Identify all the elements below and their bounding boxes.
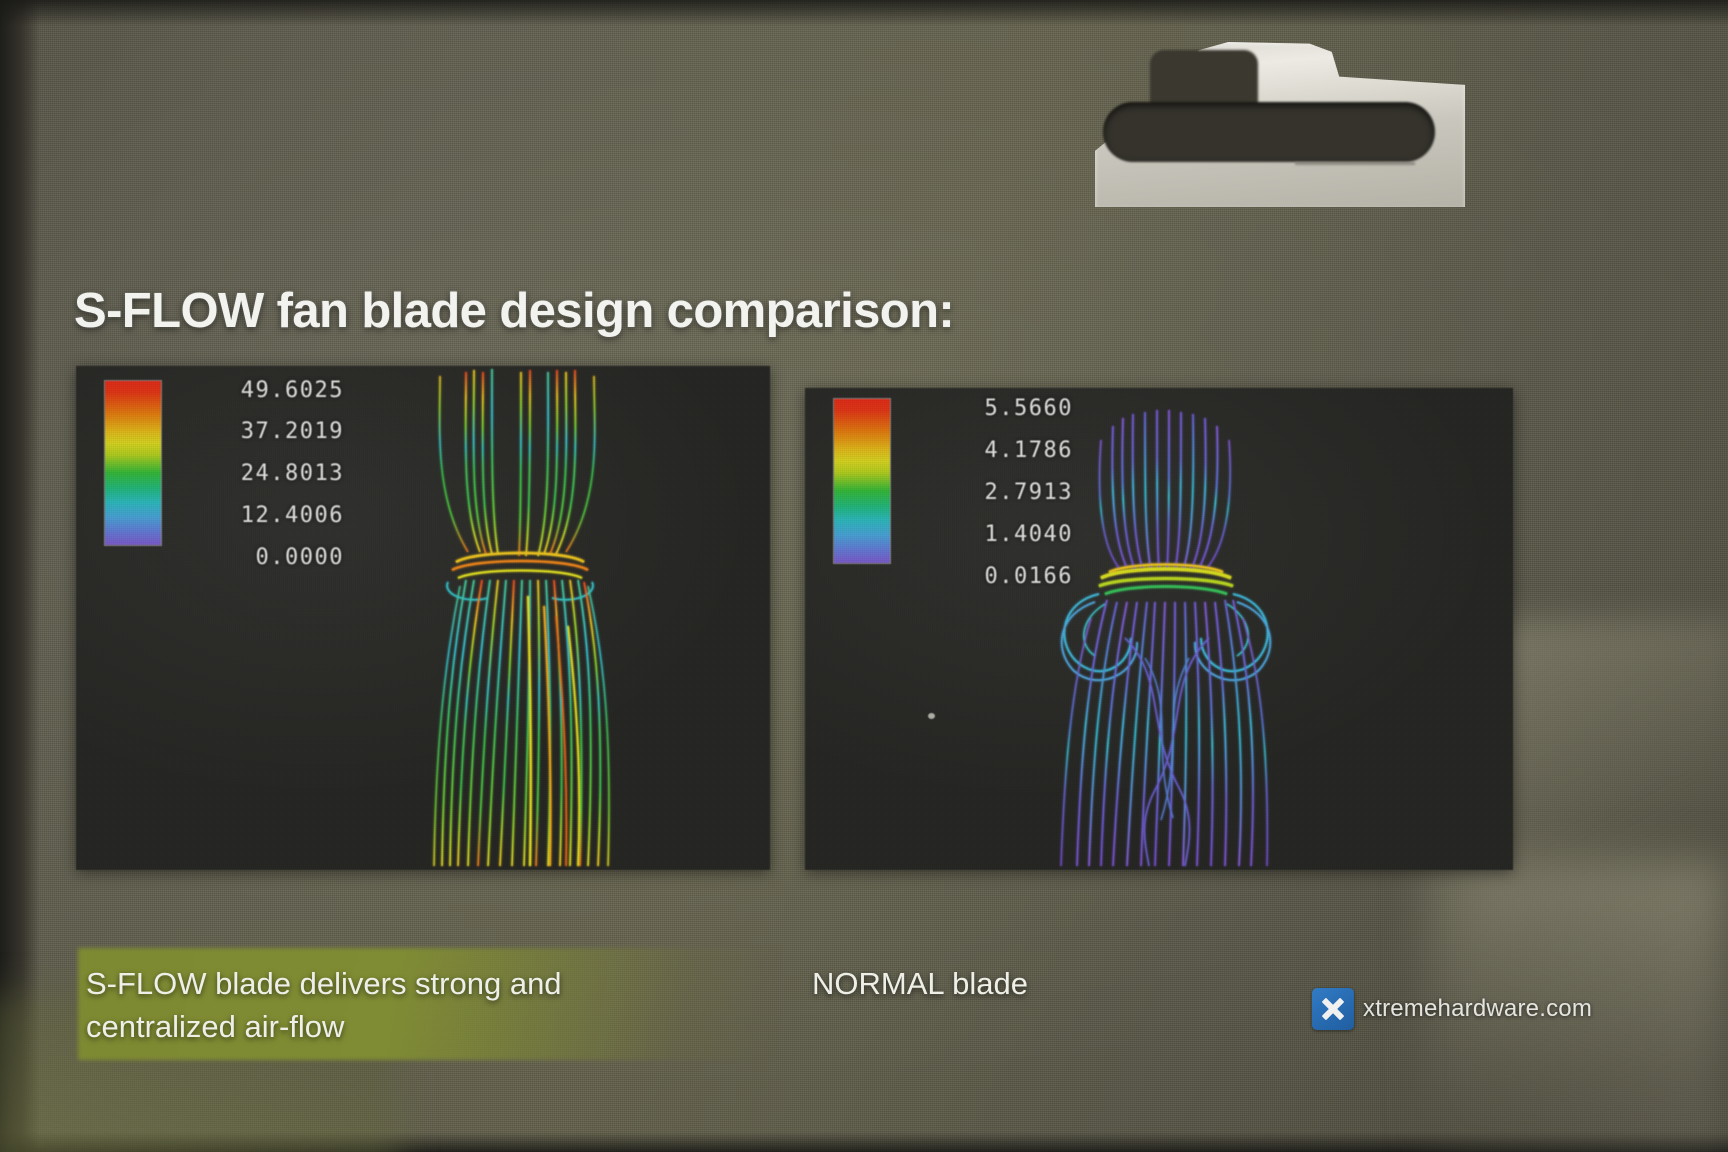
dust-speck <box>928 713 935 719</box>
watermark-text: xtremehardware.com <box>1363 995 1592 1023</box>
hang-tab-hole <box>1103 102 1435 162</box>
panel-noise-left <box>76 366 770 870</box>
hang-tab-cutout <box>1095 42 1465 207</box>
box-left-edge-shadow <box>0 0 40 1152</box>
caption-normal: NORMAL blade <box>812 962 1242 1005</box>
simulation-panel-normal: 5.5660 4.1786 2.7913 1.4040 0.0166 <box>805 388 1513 870</box>
watermark: xtremehardware.com <box>1312 988 1592 1030</box>
hang-tab-crease <box>1295 162 1415 165</box>
box-top-edge-shadow <box>0 0 1728 26</box>
caption-sflow: S-FLOW blade delivers strong and central… <box>86 962 706 1049</box>
product-box-photo: S-FLOW fan blade design comparison: <box>0 0 1728 1152</box>
x-logo-icon <box>1312 988 1354 1030</box>
panel-noise-right <box>805 388 1513 870</box>
page-title: S-FLOW fan blade design comparison: <box>74 283 1254 339</box>
simulation-panel-sflow: 49.6025 37.2019 24.8013 12.4006 0.0000 <box>76 366 770 870</box>
